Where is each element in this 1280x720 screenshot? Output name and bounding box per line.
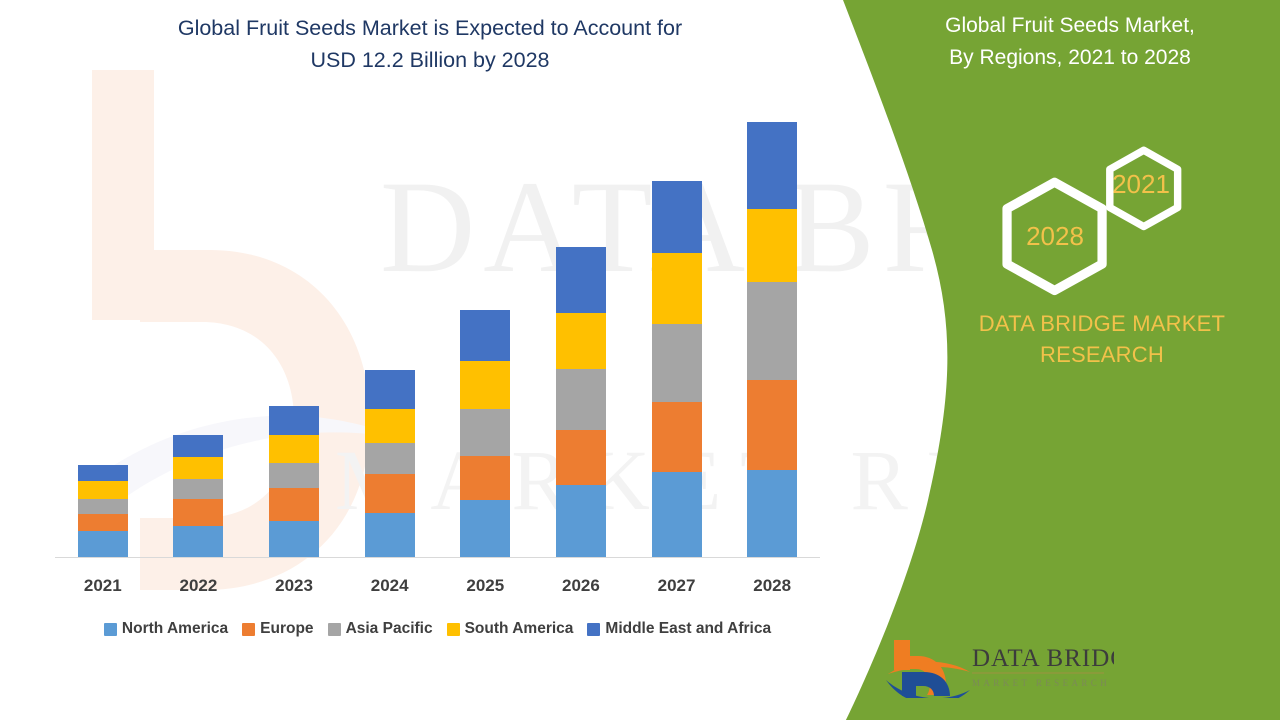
bar-group-2026 [537,100,626,557]
x-axis-tick-label: 2027 [632,576,721,596]
panel-title-line2: By Regions, 2021 to 2028 [860,42,1280,74]
legend-item[interactable]: Europe [242,620,313,638]
bar-segment[interactable] [173,435,223,457]
bar-group-2022 [154,100,243,557]
bar-segment[interactable] [460,409,510,455]
hexagon-2021-label: 2021 [1112,169,1170,199]
bar-segment[interactable] [652,472,702,557]
bar-segment[interactable] [269,488,319,520]
x-axis-tick-label: 2021 [58,576,147,596]
x-axis-tick-label: 2028 [728,576,817,596]
bar-segment[interactable] [269,406,319,435]
bar-group-2024 [345,100,434,557]
bar-group-2025 [441,100,530,557]
bar-segment[interactable] [747,282,797,380]
bar-segment[interactable] [556,247,606,312]
hexagon-badges: 2028 2021 [978,140,1238,300]
bar-segment[interactable] [269,463,319,489]
bar-segment[interactable] [652,402,702,472]
x-axis-tick-label: 2023 [250,576,339,596]
bar-segment[interactable] [460,361,510,409]
brand-line1: DATA BRIDGE MARKET [942,308,1262,339]
legend-item-label: Middle East and Africa [605,620,771,638]
bar-segment[interactable] [365,409,415,443]
legend-swatch-icon [242,623,255,636]
bar-segment[interactable] [460,310,510,361]
bar-group-2021 [58,100,147,557]
legend-item[interactable]: North America [104,620,228,638]
panel-title: Global Fruit Seeds Market, By Regions, 2… [860,10,1280,74]
legend-item[interactable]: Asia Pacific [328,620,433,638]
bar-segment[interactable] [747,380,797,470]
legend-item-label: South America [465,620,574,638]
brand-name: DATA BRIDGE MARKET RESEARCH [942,308,1262,370]
chart-title-line1: Global Fruit Seeds Market is Expected to… [60,12,800,44]
stacked-bar[interactable] [269,406,319,557]
bar-group-2023 [250,100,339,557]
legend-swatch-icon [447,623,460,636]
bar-segment[interactable] [269,435,319,463]
bar-segment[interactable] [556,430,606,485]
bar-group-2027 [632,100,721,557]
bar-segment[interactable] [173,457,223,479]
legend-swatch-icon [587,623,600,636]
logo-wordmark: DATA BRIDGE [972,645,1114,672]
stacked-bar[interactable] [747,122,797,557]
bar-group-2028 [728,100,817,557]
chart-title-line2: USD 12.2 Billion by 2028 [60,44,800,76]
legend-item[interactable]: South America [447,620,574,638]
bar-segment[interactable] [78,514,128,531]
x-axis-labels: 20212022202320242025202620272028 [55,572,820,600]
panel-title-line1: Global Fruit Seeds Market, [860,10,1280,42]
stacked-bar[interactable] [78,465,128,557]
bar-segment[interactable] [460,456,510,500]
bar-segment[interactable] [460,500,510,557]
bar-segment[interactable] [365,474,415,513]
bar-segment[interactable] [269,521,319,557]
x-axis-tick-label: 2026 [537,576,626,596]
bar-segment[interactable] [652,324,702,402]
logo-tagline: MARKET RESEARCH [972,678,1110,688]
brand-line2: RESEARCH [942,339,1262,370]
bar-segment[interactable] [747,470,797,557]
legend-item-label: Europe [260,620,313,638]
stacked-bar[interactable] [460,310,510,557]
bar-segment[interactable] [78,499,128,514]
stacked-bar[interactable] [365,370,415,557]
bar-segment[interactable] [365,513,415,557]
bar-segment[interactable] [652,253,702,324]
x-axis-tick-label: 2025 [441,576,530,596]
bar-segment[interactable] [652,181,702,253]
stacked-bar[interactable] [173,435,223,557]
x-axis-tick-label: 2024 [345,576,434,596]
stacked-bar[interactable] [652,181,702,557]
bar-segment[interactable] [173,526,223,557]
data-bridge-logo: DATA BRIDGE MARKET RESEARCH [884,636,1114,698]
stacked-bar[interactable] [556,247,606,557]
legend-item-label: Asia Pacific [346,620,433,638]
bar-segment[interactable] [556,313,606,369]
chart-plot-area [55,100,820,558]
bar-segment[interactable] [747,209,797,282]
bar-series-container [55,100,820,557]
bar-segment[interactable] [365,370,415,409]
bar-segment[interactable] [173,499,223,526]
bar-segment[interactable] [173,479,223,499]
bar-segment[interactable] [78,531,128,557]
legend-item-label: North America [122,620,228,638]
chart-legend: North AmericaEuropeAsia PacificSouth Ame… [50,616,825,642]
bar-segment[interactable] [747,122,797,209]
x-axis-line [55,557,820,558]
bar-segment[interactable] [365,443,415,474]
legend-swatch-icon [328,623,341,636]
bar-segment[interactable] [78,481,128,498]
chart-title: Global Fruit Seeds Market is Expected to… [60,12,800,76]
hexagon-2028-label: 2028 [1026,221,1084,251]
legend-swatch-icon [104,623,117,636]
bar-segment[interactable] [556,369,606,431]
legend-item[interactable]: Middle East and Africa [587,620,771,638]
infographic-root: DATA BRIDGE MARKET RESEARCH Global Fruit… [0,0,1280,720]
x-axis-tick-label: 2022 [154,576,243,596]
bar-segment[interactable] [78,465,128,481]
bar-segment[interactable] [556,485,606,557]
